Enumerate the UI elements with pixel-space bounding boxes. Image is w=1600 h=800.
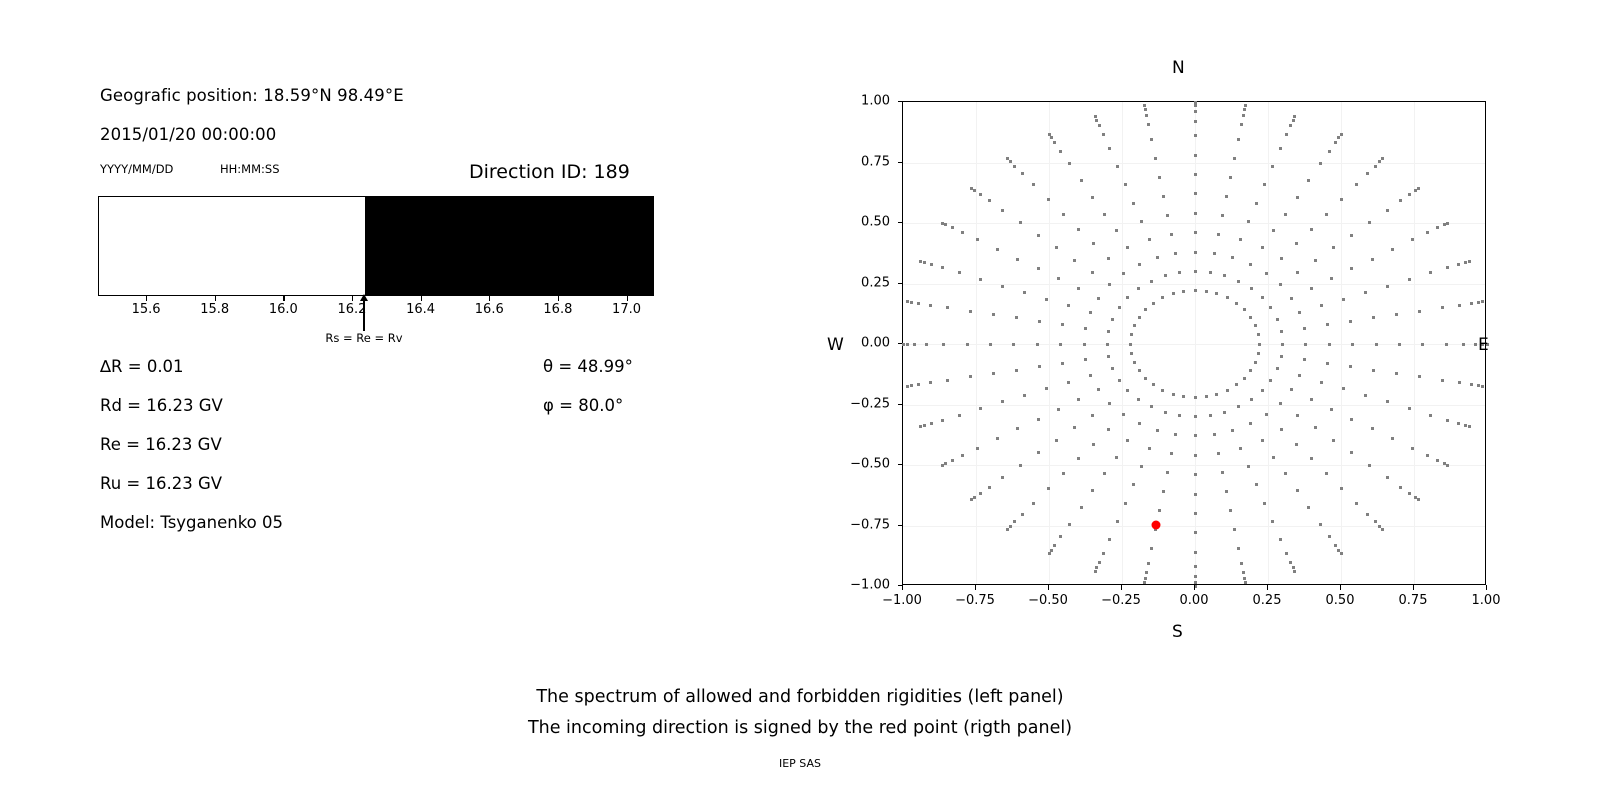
direction-point <box>1310 398 1313 401</box>
direction-point <box>1009 525 1012 528</box>
direction-point <box>1001 400 1004 403</box>
direction-point <box>1258 343 1261 346</box>
direction-point <box>1243 377 1246 380</box>
direction-point <box>1059 535 1062 538</box>
direction-point <box>1161 389 1164 392</box>
direction-point <box>1381 157 1384 160</box>
x-axis-tick <box>1194 585 1195 590</box>
direction-point <box>913 343 916 346</box>
direction-point <box>1194 173 1197 176</box>
direction-point <box>1126 389 1129 392</box>
direction-point <box>1172 292 1175 295</box>
direction-point <box>1126 246 1129 249</box>
direction-point <box>944 223 947 226</box>
direction-point <box>961 454 964 457</box>
direction-point <box>1103 213 1106 216</box>
direction-point <box>1271 520 1274 523</box>
direction-point <box>1156 429 1159 432</box>
direction-point <box>1098 561 1101 564</box>
direction-point <box>1021 172 1024 175</box>
grid-line-vertical <box>976 102 977 584</box>
grid-line-vertical <box>1122 102 1123 584</box>
direction-point <box>951 459 954 462</box>
direction-point <box>1205 290 1208 293</box>
direction-point <box>1233 528 1236 531</box>
x-axis-tick <box>1267 585 1268 590</box>
direction-point <box>1295 242 1298 245</box>
direction-point <box>1150 138 1153 141</box>
direction-point <box>979 278 982 281</box>
direction-point <box>1381 528 1384 531</box>
direction-point <box>1458 381 1461 384</box>
direction-point <box>1144 577 1147 580</box>
marker-arrow-head-icon <box>360 294 368 301</box>
grid-line-vertical <box>1341 102 1342 584</box>
direction-point <box>1398 343 1401 346</box>
direction-point <box>1006 157 1009 160</box>
x-axis-tick-label: 0.00 <box>1180 593 1209 608</box>
direction-point <box>1298 374 1301 377</box>
direction-point <box>1386 400 1389 403</box>
spectrum-tick-label: 16.2 <box>337 302 366 317</box>
compass-west-label: W <box>827 335 844 355</box>
direction-point <box>1138 316 1141 319</box>
direction-point <box>1255 483 1258 486</box>
direction-point <box>1477 301 1480 304</box>
direction-point <box>1366 513 1369 516</box>
datetime-label: 2015/01/20 00:00:00 <box>100 125 276 144</box>
direction-point <box>1062 213 1065 216</box>
x-axis-tick <box>1121 585 1122 590</box>
direction-point <box>1143 581 1146 584</box>
direction-point <box>1242 571 1245 574</box>
direction-point <box>1269 306 1272 309</box>
direction-point <box>1094 115 1097 118</box>
direction-point <box>1237 405 1240 408</box>
direction-point <box>1293 570 1296 573</box>
direction-point <box>1059 343 1062 346</box>
direction-point <box>1061 323 1064 326</box>
spectrum-tick <box>558 296 559 301</box>
param-delta-r: ∆R = 0.01 <box>100 357 184 376</box>
direction-point <box>1038 365 1041 368</box>
direction-point <box>1271 165 1274 168</box>
direction-point <box>1194 396 1197 399</box>
y-axis-tick <box>898 283 903 284</box>
direction-point <box>1068 523 1071 526</box>
direction-point <box>1194 531 1197 534</box>
direction-point <box>1182 290 1185 293</box>
direction-point <box>1006 528 1009 531</box>
direction-point <box>1116 165 1119 168</box>
direction-point <box>1182 395 1185 398</box>
direction-point <box>1314 259 1317 262</box>
direction-point <box>1468 260 1471 263</box>
direction-point <box>1366 172 1369 175</box>
direction-point <box>1445 343 1448 346</box>
direction-point <box>1150 547 1153 550</box>
direction-point <box>1194 565 1197 568</box>
direction-point <box>1229 176 1232 179</box>
y-axis-tick <box>898 525 903 526</box>
direction-point <box>1243 308 1246 311</box>
direction-point <box>1372 369 1375 372</box>
direction-point <box>1477 384 1480 387</box>
direction-point <box>1408 278 1411 281</box>
direction-point <box>1462 343 1465 346</box>
direction-point <box>989 343 992 346</box>
grid-line-horizontal <box>903 223 1485 224</box>
y-axis-tick <box>898 585 903 586</box>
direction-point <box>941 464 944 467</box>
x-axis-tick <box>1340 585 1341 590</box>
direction-point <box>1295 443 1298 446</box>
direction-point <box>1138 369 1141 372</box>
direction-point <box>1355 502 1358 505</box>
direction-point <box>1261 296 1264 299</box>
direction-point <box>1350 418 1353 421</box>
direction-point <box>976 447 979 450</box>
direction-point <box>1391 437 1394 440</box>
direction-point <box>1285 552 1288 555</box>
direction-point <box>942 343 945 346</box>
direction-point <box>910 384 913 387</box>
direction-point <box>1399 199 1402 202</box>
direction-point <box>1279 402 1282 405</box>
direction-point <box>1470 302 1473 305</box>
forbidden-region <box>365 197 654 295</box>
direction-point <box>1126 296 1129 299</box>
direction-point <box>1457 422 1460 425</box>
direction-point <box>1174 433 1177 436</box>
direction-point <box>1240 562 1243 565</box>
grid-line-vertical <box>1049 102 1050 584</box>
compass-east-label: E <box>1478 335 1489 355</box>
y-axis-tick-label: 0.75 <box>861 154 890 169</box>
direction-point <box>1080 179 1083 182</box>
direction-point <box>1254 361 1257 364</box>
direction-point <box>1154 157 1157 160</box>
direction-point <box>1244 104 1247 107</box>
direction-point <box>1050 136 1053 139</box>
direction-point <box>1138 263 1141 266</box>
direction-point <box>941 222 944 225</box>
direction-point <box>1328 343 1331 346</box>
direction-point <box>1351 343 1354 346</box>
direction-point <box>1417 498 1420 501</box>
direction-point <box>1107 330 1110 333</box>
direction-point <box>1068 162 1071 165</box>
y-axis-tick-label: −0.75 <box>850 517 890 532</box>
direction-point <box>1194 454 1197 457</box>
direction-point <box>1194 104 1197 107</box>
rigidity-spectrum-bar <box>98 196 654 296</box>
direction-point <box>1194 473 1197 476</box>
direction-point <box>1328 535 1331 538</box>
direction-point <box>1280 355 1283 358</box>
direction-point <box>1032 183 1035 186</box>
spectrum-tick-label: 16.8 <box>543 302 572 317</box>
direction-point <box>1355 183 1358 186</box>
direction-point <box>919 425 922 428</box>
direction-point <box>1279 283 1282 286</box>
direction-point <box>1015 316 1018 319</box>
direction-point <box>1137 287 1140 290</box>
direction-point <box>1261 389 1264 392</box>
direction-point <box>1319 523 1322 526</box>
direction-point <box>1429 271 1432 274</box>
direction-scatter-panel: −1.00−0.75−0.50−0.250.000.250.500.751.00… <box>902 101 1486 585</box>
direction-point <box>1115 456 1118 459</box>
direction-point <box>1067 381 1070 384</box>
direction-point <box>1077 228 1080 231</box>
direction-point <box>1231 256 1234 259</box>
direction-point <box>1111 367 1114 370</box>
direction-point <box>1225 195 1228 198</box>
param-theta: θ = 48.99° <box>543 357 633 376</box>
direction-point <box>1092 443 1095 446</box>
direction-point <box>1147 562 1150 565</box>
direction-point <box>1446 266 1449 269</box>
direction-point <box>906 300 909 303</box>
direction-point <box>1304 343 1307 346</box>
spectrum-tick <box>489 296 490 301</box>
caption-line-2: The incoming direction is signed by the … <box>0 718 1600 738</box>
direction-point <box>1328 150 1331 153</box>
x-axis-tick-label: 1.00 <box>1472 593 1501 608</box>
direction-point <box>1077 457 1080 460</box>
direction-point <box>1194 192 1197 195</box>
direction-point <box>1470 383 1473 386</box>
x-axis-tick <box>1413 585 1414 590</box>
direction-point <box>1080 506 1083 509</box>
direction-point <box>1045 298 1048 301</box>
direction-point <box>973 189 976 192</box>
direction-point <box>1464 424 1467 427</box>
grid-line-vertical <box>1268 102 1269 584</box>
caption-line-1: The spectrum of allowed and forbidden ri… <box>0 687 1600 707</box>
direction-point <box>1048 133 1051 136</box>
direction-point <box>1092 242 1095 245</box>
x-axis-tick-label: 0.75 <box>1399 593 1428 608</box>
direction-point <box>1194 101 1197 104</box>
direction-point <box>1215 292 1218 295</box>
direction-point <box>961 231 964 234</box>
direction-point <box>1164 411 1167 414</box>
direction-point <box>1158 176 1161 179</box>
direction-point <box>1194 551 1197 554</box>
direction-point <box>1320 304 1323 307</box>
x-axis-tick-label: −0.75 <box>955 593 995 608</box>
direction-point <box>1059 150 1062 153</box>
direction-point <box>1013 165 1016 168</box>
direction-point <box>1334 544 1337 547</box>
direction-point <box>1411 238 1414 241</box>
direction-point <box>1164 274 1167 277</box>
direction-point <box>1152 302 1155 305</box>
direction-point <box>929 304 932 307</box>
compass-south-label: S <box>1172 622 1183 642</box>
spectrum-tick-label: 15.6 <box>132 302 161 317</box>
direction-point <box>1340 487 1343 490</box>
direction-point <box>1235 302 1238 305</box>
direction-point <box>1037 267 1040 270</box>
direction-point <box>1457 263 1460 266</box>
direction-point <box>1162 195 1165 198</box>
direction-point <box>1350 267 1353 270</box>
direction-point <box>1408 407 1411 410</box>
direction-point <box>1426 454 1429 457</box>
direction-point <box>1077 287 1080 290</box>
direction-point <box>1111 318 1114 321</box>
spectrum-tick-label: 17.0 <box>612 302 641 317</box>
direction-point <box>1067 304 1070 307</box>
geographic-position-label: Geografic position: 18.59°N 98.49°E <box>100 86 404 105</box>
direction-point <box>1215 393 1218 396</box>
direction-point <box>1340 133 1343 136</box>
direction-point <box>1374 165 1377 168</box>
direction-point <box>1272 456 1275 459</box>
date-format-hint: YYYY/MM/DD <box>100 162 173 176</box>
direction-point <box>925 343 928 346</box>
direction-point <box>1468 425 1471 428</box>
direction-point <box>1249 369 1252 372</box>
direction-point <box>1091 271 1094 274</box>
direction-point <box>917 383 920 386</box>
direction-point <box>1298 311 1301 314</box>
direction-point <box>1418 375 1421 378</box>
direction-point <box>1441 379 1444 382</box>
direction-point <box>951 226 954 229</box>
direction-point <box>1170 233 1173 236</box>
direction-point <box>1371 258 1374 261</box>
spectrum-tick-label: 16.0 <box>269 302 298 317</box>
direction-point <box>1368 221 1371 224</box>
direction-point <box>1178 271 1181 274</box>
direction-point <box>1330 408 1333 411</box>
direction-point <box>1257 352 1260 355</box>
direction-point <box>1296 271 1299 274</box>
direction-point <box>1045 387 1048 390</box>
direction-point <box>1481 385 1484 388</box>
y-axis-tick-label: 0.50 <box>861 215 890 230</box>
direction-point <box>1249 422 1252 425</box>
direction-point <box>1194 493 1197 496</box>
direction-point <box>1250 398 1253 401</box>
direction-point <box>1263 502 1266 505</box>
direction-point <box>1263 183 1266 186</box>
direction-point <box>1001 476 1004 479</box>
y-axis-tick-label: 0.25 <box>861 275 890 290</box>
direction-point <box>958 271 961 274</box>
scatter-axes-frame <box>902 101 1486 585</box>
grid-line-horizontal <box>903 526 1485 527</box>
direction-point <box>1047 198 1050 201</box>
direction-point <box>966 343 969 346</box>
direction-point <box>1226 296 1229 299</box>
direction-point <box>1408 492 1411 495</box>
direction-point <box>1446 419 1449 422</box>
direction-point <box>1102 133 1105 136</box>
direction-point <box>1108 283 1111 286</box>
direction-point <box>1269 379 1272 382</box>
direction-point <box>1443 223 1446 226</box>
direction-point <box>1307 506 1310 509</box>
direction-point <box>1073 426 1076 429</box>
direction-point <box>1009 160 1012 163</box>
direction-point <box>1150 405 1153 408</box>
direction-point <box>1350 451 1353 454</box>
direction-point <box>1303 327 1306 330</box>
param-model: Model: Tsyganenko 05 <box>100 513 283 532</box>
direction-point <box>1349 320 1352 323</box>
direction-point <box>1132 202 1135 205</box>
direction-point <box>1150 280 1153 283</box>
direction-point <box>969 310 972 313</box>
direction-point <box>1115 229 1118 232</box>
direction-point <box>1342 298 1345 301</box>
direction-point <box>1284 213 1287 216</box>
y-axis-tick <box>898 404 903 405</box>
direction-point <box>1443 462 1446 465</box>
direction-point <box>1016 427 1019 430</box>
direction-point <box>1332 439 1335 442</box>
direction-point <box>1284 472 1287 475</box>
direction-point <box>1108 538 1111 541</box>
direction-point <box>929 381 932 384</box>
direction-point <box>1243 577 1246 580</box>
direction-point <box>1130 333 1133 336</box>
direction-point <box>1237 138 1240 141</box>
y-axis-tick <box>898 101 903 102</box>
direction-point <box>1340 552 1343 555</box>
direction-point <box>1144 308 1147 311</box>
direction-point <box>996 248 999 251</box>
spectrum-tick <box>146 296 147 301</box>
direction-point <box>1474 343 1477 346</box>
direction-point <box>1132 483 1135 486</box>
direction-point <box>1023 291 1026 294</box>
direction-point <box>1166 214 1169 217</box>
direction-point <box>970 498 973 501</box>
direction-point <box>1399 486 1402 489</box>
direction-point <box>1364 291 1367 294</box>
direction-point <box>1037 418 1040 421</box>
direction-point <box>1194 120 1197 123</box>
direction-point <box>1172 393 1175 396</box>
direction-point <box>1290 388 1293 391</box>
direction-point <box>1053 141 1056 144</box>
x-axis-tick <box>1048 585 1049 590</box>
direction-point <box>1174 252 1177 255</box>
direction-point <box>1102 552 1105 555</box>
direction-point <box>1021 513 1024 516</box>
direction-point <box>1225 490 1228 493</box>
direction-point <box>1217 233 1220 236</box>
direction-point <box>1289 124 1292 127</box>
direction-point <box>1411 447 1414 450</box>
x-axis-tick <box>902 585 903 590</box>
time-format-hint: HH:MM:SS <box>220 162 280 176</box>
direction-point <box>1140 465 1143 468</box>
direction-point <box>1108 402 1111 405</box>
direction-point <box>1231 429 1234 432</box>
direction-point <box>1239 238 1242 241</box>
direction-point <box>1326 323 1329 326</box>
direction-point <box>988 486 991 489</box>
direction-point <box>1001 209 1004 212</box>
direction-point <box>1223 274 1226 277</box>
